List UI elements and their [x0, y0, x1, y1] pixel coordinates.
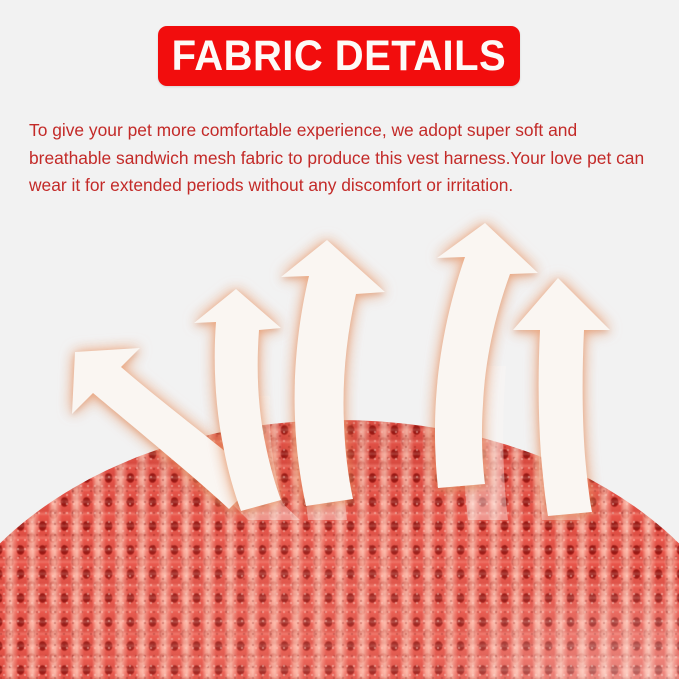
page-title: FABRIC DETAILS	[172, 35, 507, 78]
sandwich-mesh-fabric	[0, 340, 679, 679]
page-title-badge: FABRIC DETAILS	[158, 26, 520, 86]
fabric-edge-fade	[0, 340, 679, 679]
description-text: To give your pet more comfortable experi…	[29, 117, 654, 200]
fabric-details-panel: FABRIC DETAILS To give your pet more com…	[0, 0, 679, 679]
